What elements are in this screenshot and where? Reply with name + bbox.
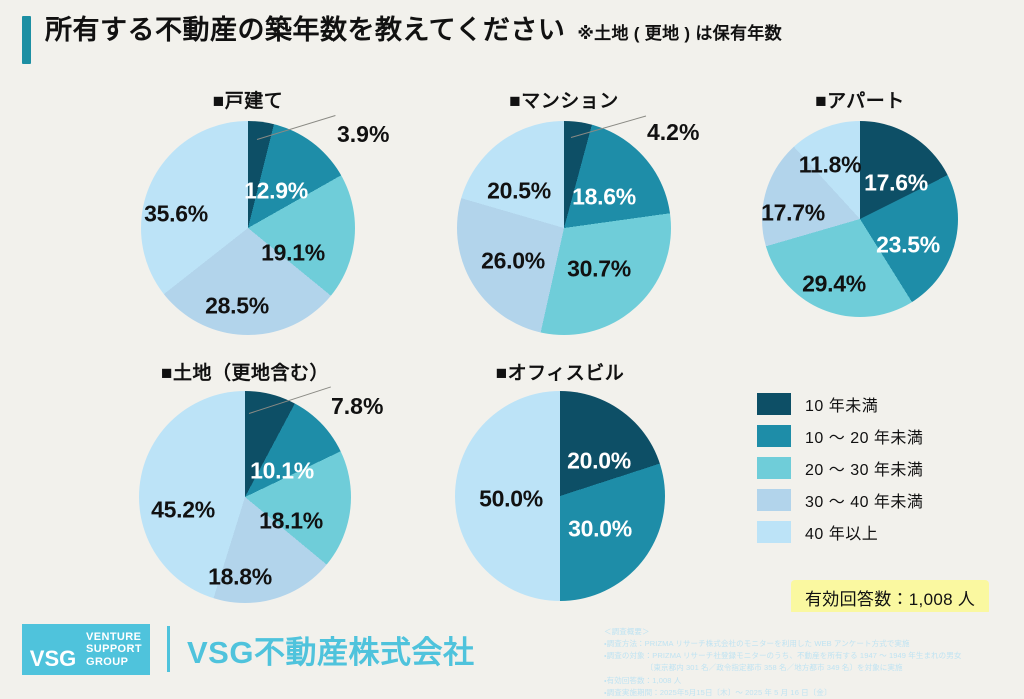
slice-callout-under-10: 4.2% — [647, 119, 699, 146]
legend-swatch — [757, 521, 791, 543]
legend-swatch — [757, 489, 791, 511]
legend-item-under-10: 10 年未満 — [757, 392, 923, 416]
company-name: VSG不動産株式会社 — [187, 627, 474, 672]
title-accent-bar — [22, 16, 31, 64]
slice-label-20-30: 18.1% — [259, 508, 323, 535]
logo-line-3: GROUP — [86, 656, 142, 668]
survey-line: ・有効回答数：1,008 人 — [604, 675, 961, 687]
slice-label-40-over: 35.6% — [144, 201, 208, 228]
slice-label-10-20: 12.9% — [244, 178, 308, 205]
slice-label-40-over: 20.5% — [487, 178, 551, 205]
logo-line-2: SUPPORT — [86, 643, 142, 655]
page-title: 所有する不動産の築年数を教えてください — [45, 16, 565, 46]
legend-label: 30 ～ 40 年未満 — [805, 488, 923, 512]
slice-label-40-over: 11.8% — [799, 152, 861, 179]
legend-item-20-30: 20 ～ 30 年未満 — [757, 456, 923, 480]
pie-title: ■土地（更地含む） — [80, 358, 410, 385]
vsg-logo-mark: VSG VENTURE SUPPORT GROUP — [22, 624, 150, 675]
slice-label-30-40: 18.8% — [208, 564, 272, 591]
valid-responses-badge: 有効回答数：1,008 人 — [791, 580, 989, 615]
slice-label-10-20: 30.0% — [568, 516, 632, 543]
slice-label-40-over: 50.0% — [479, 486, 543, 513]
slice-label-20-30: 29.4% — [802, 271, 866, 298]
legend-swatch — [757, 457, 791, 479]
slice-label-20-30: 19.1% — [261, 240, 325, 267]
legend-label: 20 ～ 30 年未満 — [805, 456, 923, 480]
survey-line: 〔東京都内 301 名／政令指定都市 358 名／地方都市 349 名〕を対象に… — [604, 662, 961, 674]
logo-divider — [167, 626, 170, 672]
infographic-page: 所有する不動産の築年数を教えてください ※土地 ( 更地 ) は保有年数 ■戸建… — [0, 0, 1024, 683]
slice-label-30-40: 28.5% — [205, 293, 269, 320]
slice-label-10-20: 23.5% — [876, 232, 940, 259]
vsg-monogram: VSG — [22, 624, 84, 675]
pie-title: ■オフィスビル — [410, 358, 710, 385]
slice-label-10-20: 18.6% — [572, 184, 636, 211]
pie-chart-office-building: ■オフィスビル 20.0% 30.0% 50.0% — [410, 358, 710, 601]
survey-overview: ＜調査概要＞ ・調査方法：PRIZMA リサーチ株式会社のモニターを利用した W… — [604, 626, 961, 699]
vsg-wordmark: VENTURE SUPPORT GROUP — [84, 624, 150, 675]
survey-line: ＜調査概要＞ — [604, 626, 961, 638]
pie-title: ■戸建て — [88, 86, 408, 113]
legend-label: 40 年以上 — [805, 520, 878, 544]
pie-chart-condominium: ■マンション 18.6% 30.7% 26.0% 20.5% 4.2% — [404, 86, 724, 335]
survey-line: ・調査方法：PRIZMA リサーチ株式会社のモニターを利用した WEB アンケー… — [604, 638, 961, 650]
slice-label-40-over: 45.2% — [151, 497, 215, 524]
legend-label: 10 年未満 — [805, 392, 878, 416]
pie-chart-land: ■土地（更地含む） 10.1% 18.1% 18.8% 45.2% 7.8% — [80, 358, 410, 603]
slice-label-30-40: 17.7% — [761, 200, 825, 227]
pie-graphic — [457, 121, 671, 335]
legend-label: 10 ～ 20 年未満 — [805, 424, 923, 448]
page-title-note: ※土地 ( 更地 ) は保有年数 — [577, 19, 782, 44]
legend-item-40-over: 40 年以上 — [757, 520, 923, 544]
pie-title: ■マンション — [404, 86, 724, 113]
pie-title: ■アパート — [710, 86, 1010, 113]
legend: 10 年未満 10 ～ 20 年未満 20 ～ 30 年未満 30 ～ 40 年… — [757, 392, 923, 552]
pie-chart-detached-house: ■戸建て 12.9% 19.1% 28.5% 35.6% 3.9% — [88, 86, 408, 335]
slice-label-20-30: 30.7% — [567, 256, 631, 283]
footer: VSG VENTURE SUPPORT GROUP VSG不動産株式会社 ＜調査… — [0, 612, 1024, 683]
survey-line: ・調査の対象：PRIZMA リサーチ社登録モニターのうち、不動産を所有する 19… — [604, 650, 961, 662]
legend-item-10-20: 10 ～ 20 年未満 — [757, 424, 923, 448]
legend-item-30-40: 30 ～ 40 年未満 — [757, 488, 923, 512]
brand-logo: VSG VENTURE SUPPORT GROUP VSG不動産株式会社 — [22, 624, 474, 675]
survey-line: ・調査実施期間：2025年5月15日〔木〕～ 2025 年 5 月 16 日〔金… — [604, 687, 961, 699]
slice-callout-under-10: 3.9% — [337, 121, 389, 148]
slice-label-30-40: 26.0% — [481, 248, 545, 275]
logo-line-1: VENTURE — [86, 631, 142, 643]
legend-swatch — [757, 425, 791, 447]
slice-label-10-20: 10.1% — [250, 458, 314, 485]
slice-label-under-10: 17.6% — [864, 170, 928, 197]
page-header: 所有する不動産の築年数を教えてください ※土地 ( 更地 ) は保有年数 — [22, 16, 782, 64]
pie-chart-apartment: ■アパート 17.6% 23.5% 29.4% 17.7% 11.8% — [710, 86, 1010, 317]
slice-label-under-10: 20.0% — [567, 448, 631, 475]
legend-swatch — [757, 393, 791, 415]
slice-callout-under-10: 7.8% — [331, 393, 383, 420]
